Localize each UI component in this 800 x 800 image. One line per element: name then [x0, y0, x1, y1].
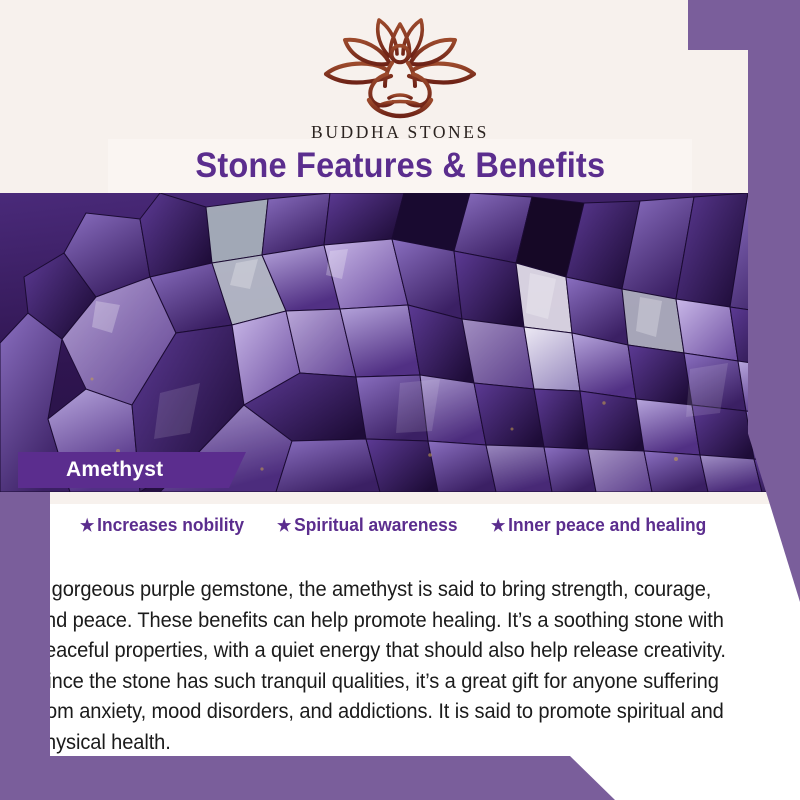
benefit-label-2: Spiritual awareness: [294, 514, 457, 536]
star-icon: ★: [491, 517, 505, 534]
benefit-item-2: ★ Spiritual awareness: [277, 514, 458, 536]
cream-divider-strip: [0, 492, 800, 504]
benefit-item-1: ★ Increases nobility: [80, 514, 244, 536]
amethyst-crystal-cluster-photo: [0, 193, 800, 492]
benefit-label-1: Increases nobility: [97, 514, 244, 536]
stone-name-banner: Amethyst: [18, 452, 246, 488]
star-icon: ★: [277, 517, 291, 534]
stone-info-card: BUDDHA STONES Stone Features & Benefits: [0, 0, 800, 800]
benefits-list: ★ Increases nobility ★ Spiritual awarene…: [0, 514, 800, 536]
lotus-meditation-figure-icon: [313, 14, 487, 120]
title-banner: Stone Features & Benefits: [108, 139, 692, 193]
brand-logo: BUDDHA STONES: [0, 14, 800, 143]
content-area: ★ Increases nobility ★ Spiritual awarene…: [0, 492, 800, 800]
benefit-item-3: ★ Inner peace and healing: [491, 514, 706, 536]
benefit-label-3: Inner peace and healing: [508, 514, 706, 536]
photo-artwork: [0, 193, 800, 492]
frame-left-accent: [0, 492, 50, 800]
star-icon: ★: [80, 517, 94, 534]
stone-description: A gorgeous purple gemstone, the amethyst…: [34, 575, 741, 758]
page-title: Stone Features & Benefits: [195, 146, 605, 186]
stone-name: Amethyst: [18, 458, 203, 482]
